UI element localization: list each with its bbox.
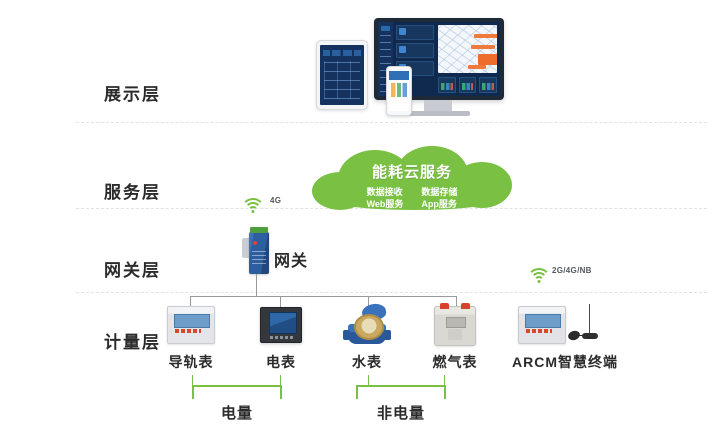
meter-node-electric: 电表 (238, 300, 324, 372)
antenna-icon (568, 304, 602, 344)
bracket-tick (280, 375, 281, 385)
meter-node-gas: 燃气表 (412, 300, 498, 372)
meter-node-din-rail: 导轨表 (148, 300, 234, 372)
layer-divider-display-service (76, 122, 707, 123)
monitor-stand-base (408, 111, 470, 116)
cloud-service-columns: 数据接收 Web服务 数据存储 App服务 (312, 186, 512, 210)
stat-card (396, 25, 434, 40)
din-rail-meter-icon (148, 300, 234, 348)
cloud-item-data-receive: 数据接收 (367, 186, 404, 198)
cloud-service-node: 能耗云服务 数据接收 Web服务 数据存储 App服务 (312, 146, 512, 210)
meter-node-water: 水表 (324, 300, 410, 372)
widget-list (479, 77, 497, 93)
bracket-tick (444, 375, 445, 385)
grouping-bracket-non-electric (356, 385, 446, 399)
meter-label-din-rail: 导轨表 (148, 352, 234, 372)
cloud-item-data-storage: 数据存储 (421, 186, 457, 198)
smartphone-device (386, 66, 412, 116)
cloud-title: 能耗云服务 (312, 161, 512, 182)
gas-meter-icon (412, 300, 498, 348)
architecture-diagram: 展示层 服务层 网关层 计量层 (0, 0, 715, 443)
bracket-tick (192, 375, 193, 385)
gateway-device (242, 226, 272, 274)
layer-divider-gateway-metering (76, 292, 707, 293)
wifi-icon (242, 198, 264, 214)
meter-label-water: 水表 (324, 352, 410, 372)
tablet-screen (320, 45, 364, 105)
electric-meter-icon (238, 300, 324, 348)
meter-label-arcm-terminal: ARCM智慧终端 (500, 352, 630, 372)
grouping-label-non-electric: 非电量 (356, 402, 446, 423)
gateway-body (249, 232, 269, 274)
phone-screen (389, 71, 409, 111)
gateway-uplink-tag: 4G (270, 196, 281, 205)
tablet-device (316, 40, 368, 110)
arcm-terminal-icon (500, 300, 630, 348)
connector-gateway-drop (256, 274, 257, 296)
cloud-text-block: 能耗云服务 数据接收 Web服务 数据存储 App服务 (312, 146, 512, 210)
grouping-bracket-electric (192, 385, 282, 399)
widget-chart (438, 77, 456, 93)
meter-node-arcm-terminal: ARCM智慧终端 (500, 300, 630, 372)
widget-gauge (459, 77, 477, 93)
cloud-item-web-service: Web服务 (367, 198, 404, 210)
layer-label-display: 展示层 (104, 80, 194, 105)
gateway-terminal-block (250, 227, 268, 233)
meter-label-electric: 电表 (238, 352, 324, 372)
dashboard-map (438, 25, 497, 73)
map-annotation (468, 65, 486, 69)
display-device-group (300, 10, 540, 118)
map-annotation (478, 54, 497, 65)
dashboard-widgets (438, 77, 497, 93)
connector-bus (190, 296, 456, 297)
wifi-icon (528, 268, 550, 284)
cloud-column-left: 数据接收 Web服务 (367, 186, 404, 210)
cloud-item-app-service: App服务 (421, 198, 457, 210)
layer-label-service: 服务层 (104, 178, 194, 203)
grouping-label-electric: 电量 (192, 402, 282, 423)
bracket-tick (368, 375, 369, 385)
cloud-column-right: 数据存储 App服务 (421, 186, 457, 210)
meter-label-gas: 燃气表 (412, 352, 498, 372)
layer-label-gateway: 网关层 (104, 256, 194, 281)
water-meter-icon (324, 300, 410, 348)
gateway-label: 网关 (274, 247, 308, 271)
map-annotation (474, 34, 497, 38)
arcm-uplink-tag: 2G/4G/NB (552, 266, 592, 275)
map-annotation (471, 45, 495, 49)
stat-card (396, 43, 434, 58)
